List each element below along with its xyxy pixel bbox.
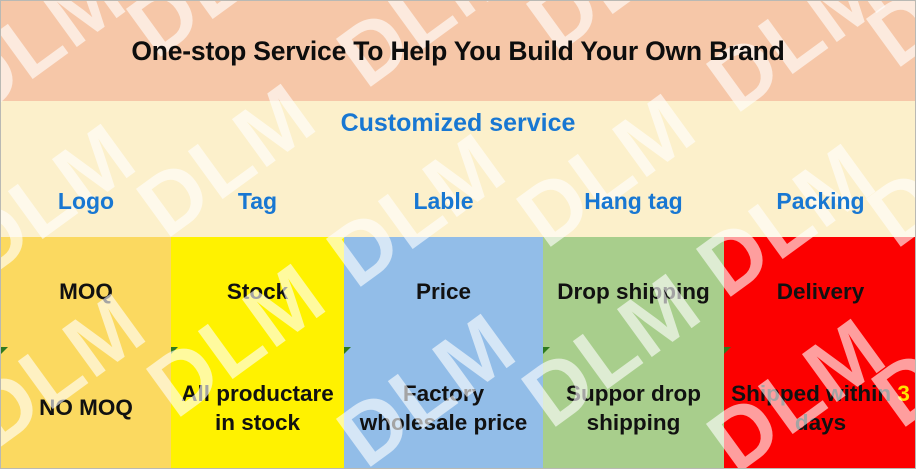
- corner-marker-icon: [344, 347, 351, 354]
- detail-text-part: Shipped within: [731, 381, 897, 406]
- highlight-value: 3: [897, 381, 910, 406]
- service-detail-2: Factory wholesale price: [344, 347, 543, 469]
- service-column-1: StockAll productare in stock: [171, 237, 344, 469]
- service-detail-text-4: Shipped within 3 days: [728, 380, 913, 438]
- service-detail-4: Shipped within 3 days: [724, 347, 916, 469]
- corner-marker-icon: [171, 347, 178, 354]
- corner-marker-icon: [724, 347, 731, 354]
- subheader-title: Customized service: [1, 109, 915, 138]
- service-title-1: Stock: [171, 237, 344, 347]
- service-title-3: Drop shipping: [543, 237, 724, 347]
- service-column-2: PriceFactory wholesale price: [344, 237, 543, 469]
- service-column-0: MOQNO MOQ: [1, 237, 171, 469]
- service-column-label-2: Lable: [344, 179, 543, 224]
- page-title: One-stop Service To Help You Build Your …: [1, 1, 915, 101]
- service-column-label-0: Logo: [1, 179, 171, 224]
- service-title-2: Price: [344, 237, 543, 347]
- corner-marker-icon: [543, 347, 550, 354]
- service-detail-3: Suppor drop shipping: [543, 347, 724, 469]
- service-column-labels: LogoTagLableHang tagPacking: [1, 179, 916, 224]
- promo-banner: MOQNO MOQStockAll productare in stockPri…: [0, 0, 916, 469]
- corner-marker-icon: [1, 347, 8, 354]
- service-column-label-4: Packing: [724, 179, 916, 224]
- service-column-4: DeliveryShipped within 3 days: [724, 237, 916, 469]
- service-detail-0: NO MOQ: [1, 347, 171, 469]
- service-title-4: Delivery: [724, 237, 916, 347]
- service-grid: MOQNO MOQStockAll productare in stockPri…: [1, 237, 916, 469]
- service-column-3: Drop shippingSuppor drop shipping: [543, 237, 724, 469]
- detail-text-part: days: [795, 410, 846, 435]
- service-column-label-1: Tag: [171, 179, 344, 224]
- service-detail-1: All productare in stock: [171, 347, 344, 469]
- service-column-label-3: Hang tag: [543, 179, 724, 224]
- service-title-0: MOQ: [1, 237, 171, 347]
